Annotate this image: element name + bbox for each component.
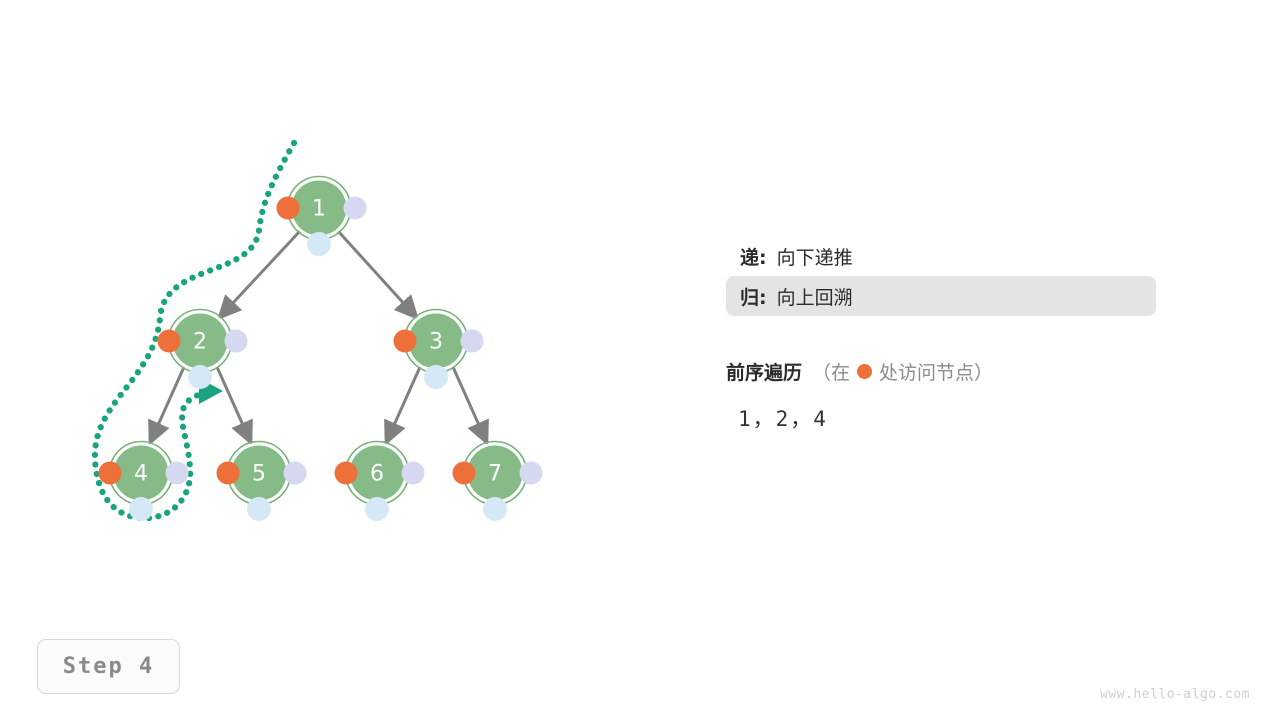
traversal-title: 前序遍历 (726, 358, 802, 385)
tree-node-7[interactable]: 7 (453, 442, 543, 522)
recursion-legend: 递: 向下递推 归: 向上回溯 (726, 236, 1156, 316)
node-label: 6 (370, 462, 384, 487)
node-label: 1 (312, 197, 326, 222)
edge-3-6 (386, 367, 420, 443)
bottom-dot (307, 232, 331, 256)
right-dot (402, 462, 425, 485)
edge-1-3 (338, 231, 417, 318)
visit-dot-left (99, 462, 122, 485)
legend-value-backtrack: 向上回溯 (777, 283, 853, 310)
legend-row-backtrack: 归: 向上回溯 (726, 276, 1156, 316)
traversal-note-close: 处访问节点） (879, 358, 993, 385)
watermark: www.hello-algo.com (1100, 687, 1250, 702)
tree-node-2[interactable]: 2 (158, 310, 248, 390)
bottom-dot (247, 497, 271, 521)
bottom-dot (129, 497, 153, 521)
visit-dot-left (277, 197, 300, 220)
traversal-summary: 前序遍历 （在 处访问节点） 1，2，4 (726, 358, 1186, 433)
tree-node-1[interactable]: 1 (277, 177, 367, 257)
edge-1-2 (219, 231, 300, 318)
legend-key-backtrack: 归: (740, 283, 767, 310)
watermark-text: www.hello-algo.com (1100, 687, 1250, 702)
edge-2-4 (150, 367, 184, 443)
node-label: 4 (134, 462, 148, 487)
edge-3-7 (453, 367, 487, 443)
node-label: 5 (252, 462, 266, 487)
tree-node-3[interactable]: 3 (394, 310, 484, 390)
step-badge-label: Step 4 (63, 654, 154, 679)
step-badge: Step 4 (37, 639, 180, 694)
bottom-dot (483, 497, 507, 521)
edge-2-5 (217, 367, 251, 443)
legend-row-recurse: 递: 向下递推 (726, 236, 1156, 276)
bottom-dot (365, 497, 389, 521)
node-label: 7 (488, 462, 502, 487)
visit-marker-dot (857, 364, 872, 379)
right-dot (520, 462, 543, 485)
traversal-values: 1，2，4 (726, 403, 1186, 433)
tree-node-6[interactable]: 6 (335, 442, 425, 522)
diagram-canvas: 1 2 3 4 (0, 0, 1280, 720)
node-label: 3 (429, 330, 443, 355)
right-dot (225, 330, 248, 353)
visit-dot-left (158, 330, 181, 353)
legend-key-recurse: 递: (740, 243, 767, 270)
right-dot (284, 462, 307, 485)
visit-dot-left (335, 462, 358, 485)
visit-dot-left (394, 330, 417, 353)
right-dot (166, 462, 189, 485)
bottom-dot (188, 365, 212, 389)
node-label: 2 (193, 330, 207, 355)
right-dot (344, 197, 367, 220)
tree-node-5[interactable]: 5 (217, 442, 307, 522)
visit-dot-left (217, 462, 240, 485)
legend-value-recurse: 向下递推 (777, 243, 853, 270)
visit-dot-left (453, 462, 476, 485)
bottom-dot (424, 365, 448, 389)
traversal-note-open: （在 (812, 358, 850, 385)
traversal-header: 前序遍历 （在 处访问节点） (726, 358, 1186, 385)
right-dot (461, 330, 484, 353)
